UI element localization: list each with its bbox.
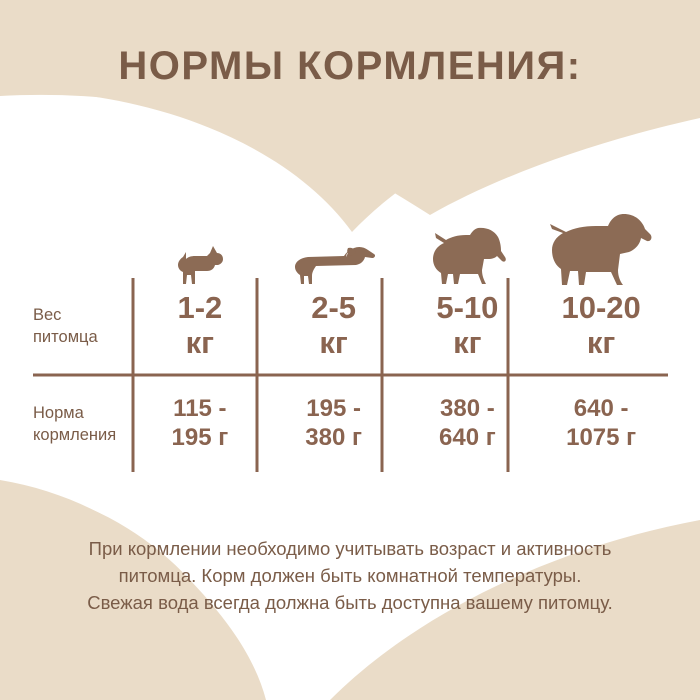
weight-value-4: 10-20 кг bbox=[534, 277, 668, 375]
portion-value-3-line2: 640 г bbox=[439, 424, 496, 453]
weight-value-4-unit: кг bbox=[587, 326, 615, 361]
weight-value-2-range: 2-5 bbox=[311, 291, 356, 326]
weight-value-2-unit: кг bbox=[319, 326, 347, 361]
portion-value-4: 640 - 1075 г bbox=[534, 375, 668, 473]
table-row-portion: Норма кормления 115 - 195 г 195 - 380 г … bbox=[33, 375, 668, 473]
weight-value-1-range: 1-2 bbox=[177, 291, 222, 326]
row-label-portion-line1: Норма bbox=[33, 402, 127, 424]
weight-value-2: 2-5 кг bbox=[267, 277, 401, 375]
row-label-weight-line2: питомца bbox=[33, 326, 127, 348]
weight-value-3: 5-10 кг bbox=[401, 277, 535, 375]
portion-value-3-line1: 380 - bbox=[440, 395, 495, 424]
weight-value-4-range: 10-20 bbox=[561, 291, 640, 326]
row-label-weight-line1: Вес bbox=[33, 304, 127, 326]
table-row-weight: Вес питомца 1-2 кг 2-5 кг 5-10 кг 10-20 … bbox=[33, 277, 668, 375]
weight-value-1: 1-2 кг bbox=[133, 277, 267, 375]
portion-value-2-line2: 380 г bbox=[305, 424, 362, 453]
row-label-portion-line2: кормления bbox=[33, 424, 127, 446]
weight-value-1-unit: кг bbox=[186, 326, 214, 361]
portion-value-3: 380 - 640 г bbox=[401, 375, 535, 473]
feeding-note-line2: питомца. Корм должен быть комнатной темп… bbox=[0, 563, 700, 590]
row-label-weight: Вес питомца bbox=[33, 277, 133, 375]
feeding-note: При кормлении необходимо учитывать возра… bbox=[0, 536, 700, 616]
portion-value-1-line1: 115 - bbox=[173, 395, 226, 424]
row-label-portion: Норма кормления bbox=[33, 375, 133, 473]
portion-value-4-line2: 1075 г bbox=[566, 424, 636, 453]
weight-value-3-unit: кг bbox=[453, 326, 481, 361]
portion-value-1: 115 - 195 г bbox=[133, 375, 267, 473]
portion-value-4-line1: 640 - bbox=[574, 395, 629, 424]
feeding-table: Вес питомца 1-2 кг 2-5 кг 5-10 кг 10-20 … bbox=[33, 277, 668, 473]
feeding-note-line3: Свежая вода всегда должна быть доступна … bbox=[0, 590, 700, 617]
feeding-note-line1: При кормлении необходимо учитывать возра… bbox=[0, 536, 700, 563]
weight-value-3-range: 5-10 bbox=[436, 291, 498, 326]
portion-value-2-line1: 195 - bbox=[306, 395, 361, 424]
portion-value-2: 195 - 380 г bbox=[267, 375, 401, 473]
portion-value-1-line2: 195 г bbox=[172, 424, 229, 453]
page-title: НОРМЫ КОРМЛЕНИЯ: bbox=[0, 44, 700, 89]
